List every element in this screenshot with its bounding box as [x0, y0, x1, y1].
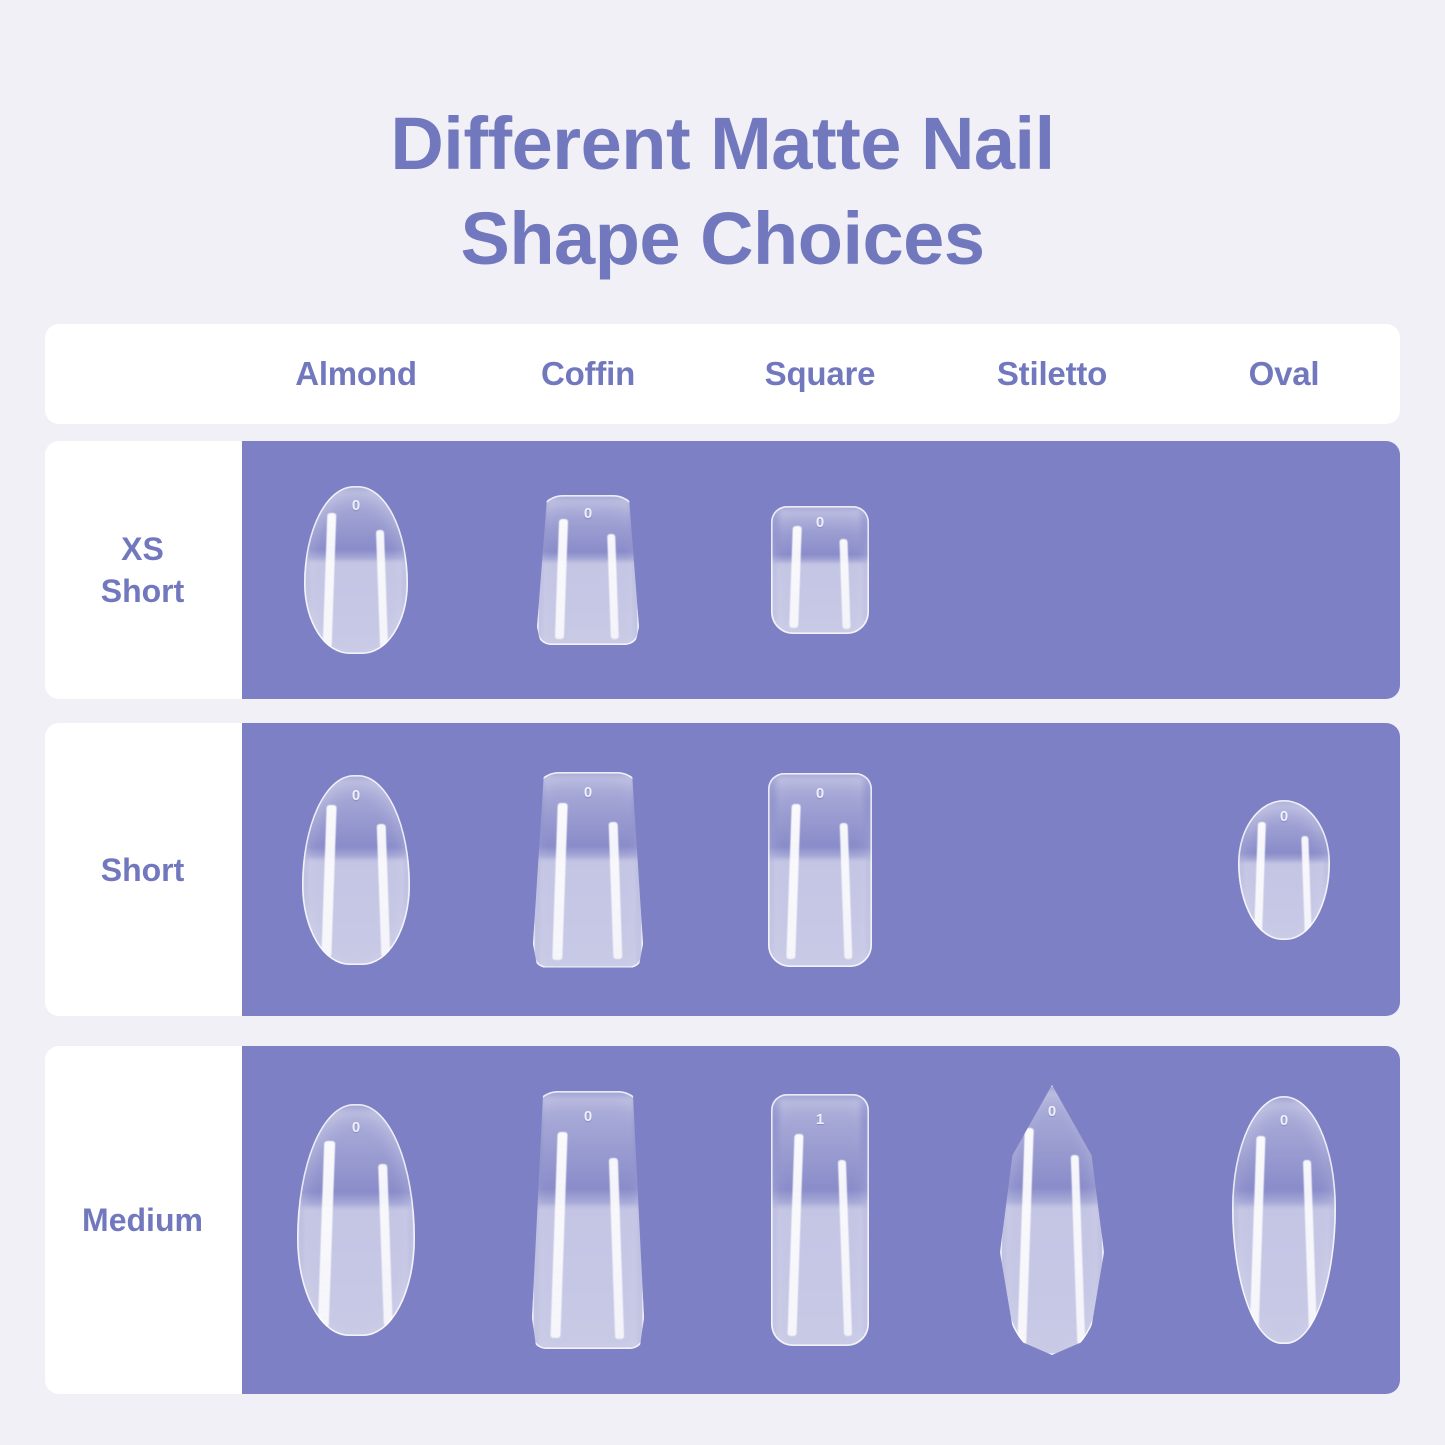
- nail-cell-oval: 0: [1168, 723, 1400, 1016]
- nail-size-code: 0: [352, 498, 360, 513]
- nail-tip-almond: 0: [302, 775, 410, 965]
- column-header-coffin: Coffin: [472, 355, 704, 393]
- page-title-line-2: Shape Choices: [0, 191, 1445, 286]
- nail-size-code: 1: [816, 1112, 824, 1127]
- nail-size-code: 0: [816, 515, 824, 530]
- nail-cell-stiletto: [936, 441, 1168, 699]
- nail-cell-almond: 0: [240, 1046, 472, 1394]
- size-row-xs-short: XS Short000: [45, 441, 1400, 699]
- column-header-square: Square: [704, 355, 936, 393]
- nail-cell-square: 0: [704, 441, 936, 699]
- nail-cell-stiletto: 0: [936, 1046, 1168, 1394]
- nail-cell-stiletto: [936, 723, 1168, 1016]
- nail-size-code: 0: [1048, 1104, 1056, 1119]
- nail-tip-coffin: 0: [537, 495, 639, 645]
- nail-tip-oval: 0: [1232, 1096, 1336, 1344]
- column-header-oval: Oval: [1168, 355, 1400, 393]
- nail-size-code: 0: [584, 785, 592, 800]
- column-header-almond: Almond: [240, 355, 472, 393]
- column-header-stiletto: Stiletto: [936, 355, 1168, 393]
- nail-size-code: 0: [352, 1120, 360, 1135]
- nail-cell-almond: 0: [240, 441, 472, 699]
- page-title: Different Matte Nail Shape Choices: [0, 96, 1445, 286]
- nail-tip-stiletto: 0: [1000, 1085, 1104, 1355]
- nail-size-code: 0: [352, 788, 360, 803]
- nail-tip-square: 1: [771, 1094, 869, 1346]
- nail-size-code: 0: [816, 786, 824, 801]
- nail-cell-coffin: 0: [472, 1046, 704, 1394]
- size-row-short: Short0000: [45, 723, 1400, 1016]
- nail-size-code: 0: [1280, 1113, 1288, 1128]
- nail-size-code: 0: [584, 1109, 592, 1124]
- size-row-panel: 000: [240, 441, 1400, 699]
- size-row-label: Short: [45, 723, 240, 1016]
- nail-cell-oval: 0: [1168, 1046, 1400, 1394]
- nail-cell-square: 0: [704, 723, 936, 1016]
- size-row-medium: Medium00100: [45, 1046, 1400, 1394]
- nail-cell-coffin: 0: [472, 441, 704, 699]
- nail-tip-square: 0: [768, 773, 872, 967]
- nail-size-code: 0: [584, 506, 592, 521]
- nail-cell-square: 1: [704, 1046, 936, 1394]
- size-row-panel: 00100: [240, 1046, 1400, 1394]
- nail-tip-square: 0: [771, 506, 869, 634]
- nail-tip-coffin: 0: [533, 772, 643, 968]
- page-title-line-1: Different Matte Nail: [0, 96, 1445, 191]
- nail-cell-coffin: 0: [472, 723, 704, 1016]
- nail-tip-coffin: 0: [532, 1091, 644, 1349]
- size-row-label: Medium: [45, 1046, 240, 1394]
- nail-cell-oval: [1168, 441, 1400, 699]
- nail-tip-oval: 0: [1238, 800, 1330, 940]
- nail-cell-almond: 0: [240, 723, 472, 1016]
- nail-tip-almond: 0: [297, 1104, 415, 1336]
- nail-tip-almond: 0: [304, 486, 408, 654]
- size-row-label: XS Short: [45, 441, 240, 699]
- size-row-panel: 0000: [240, 723, 1400, 1016]
- nail-size-code: 0: [1280, 809, 1288, 824]
- column-header-card: Almond Coffin Square Stiletto Oval: [45, 324, 1400, 424]
